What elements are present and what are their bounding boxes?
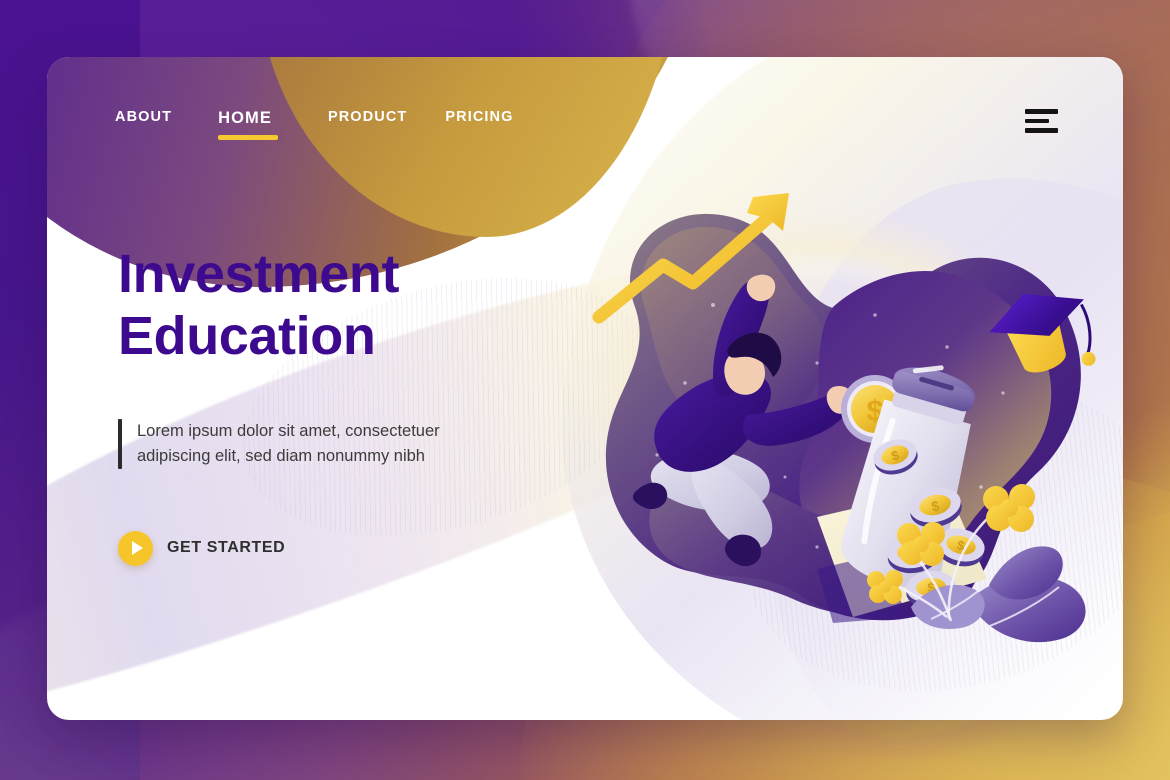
get-started-button[interactable]: GET STARTED xyxy=(118,531,285,566)
description-line-2: adipiscing elit, sed diam nonummy nibh xyxy=(137,444,440,469)
page-title: Investment Education xyxy=(118,243,440,367)
nav-item-product[interactable]: PRODUCT xyxy=(328,109,407,137)
nav-label-product: PRODUCT xyxy=(328,109,407,125)
hero-content: Investment Education Lorem ipsum dolor s… xyxy=(118,243,440,566)
cap-tassel-knob xyxy=(1080,350,1098,368)
main-navigation: ABOUT HOME PRODUCT PRICING xyxy=(115,109,514,140)
nav-item-pricing[interactable]: PRICING xyxy=(445,109,513,137)
nav-item-home[interactable]: HOME xyxy=(218,109,272,140)
hamburger-menu-icon[interactable] xyxy=(1025,109,1061,135)
play-triangle xyxy=(132,541,143,555)
headline-line-2: Education xyxy=(118,305,440,367)
description-line-1: Lorem ipsum dolor sit amet, consectetuer xyxy=(137,422,440,440)
hero-description: Lorem ipsum dolor sit amet, consectetuer… xyxy=(118,419,440,469)
headline-line-1: Investment xyxy=(118,244,399,304)
hamburger-bar-bottom xyxy=(1025,128,1058,133)
nav-label-home: HOME xyxy=(218,109,272,128)
nav-active-underline xyxy=(218,135,278,140)
get-started-label: GET STARTED xyxy=(167,539,285,557)
description-text: Lorem ipsum dolor sit amet, consectetuer… xyxy=(137,419,440,469)
description-accent-bar xyxy=(118,419,122,469)
nav-label-pricing: PRICING xyxy=(445,109,513,125)
hero-card: ABOUT HOME PRODUCT PRICING Investment Ed… xyxy=(47,57,1123,720)
nav-label-about: ABOUT xyxy=(115,109,172,125)
investment-education-illustration: $ xyxy=(517,187,1117,657)
hamburger-bar-top xyxy=(1025,109,1058,114)
hamburger-bar-middle xyxy=(1025,119,1049,124)
screenshot-root: ABOUT HOME PRODUCT PRICING Investment Ed… xyxy=(0,0,1170,780)
nav-item-about[interactable]: ABOUT xyxy=(115,109,172,137)
play-icon xyxy=(118,531,153,566)
